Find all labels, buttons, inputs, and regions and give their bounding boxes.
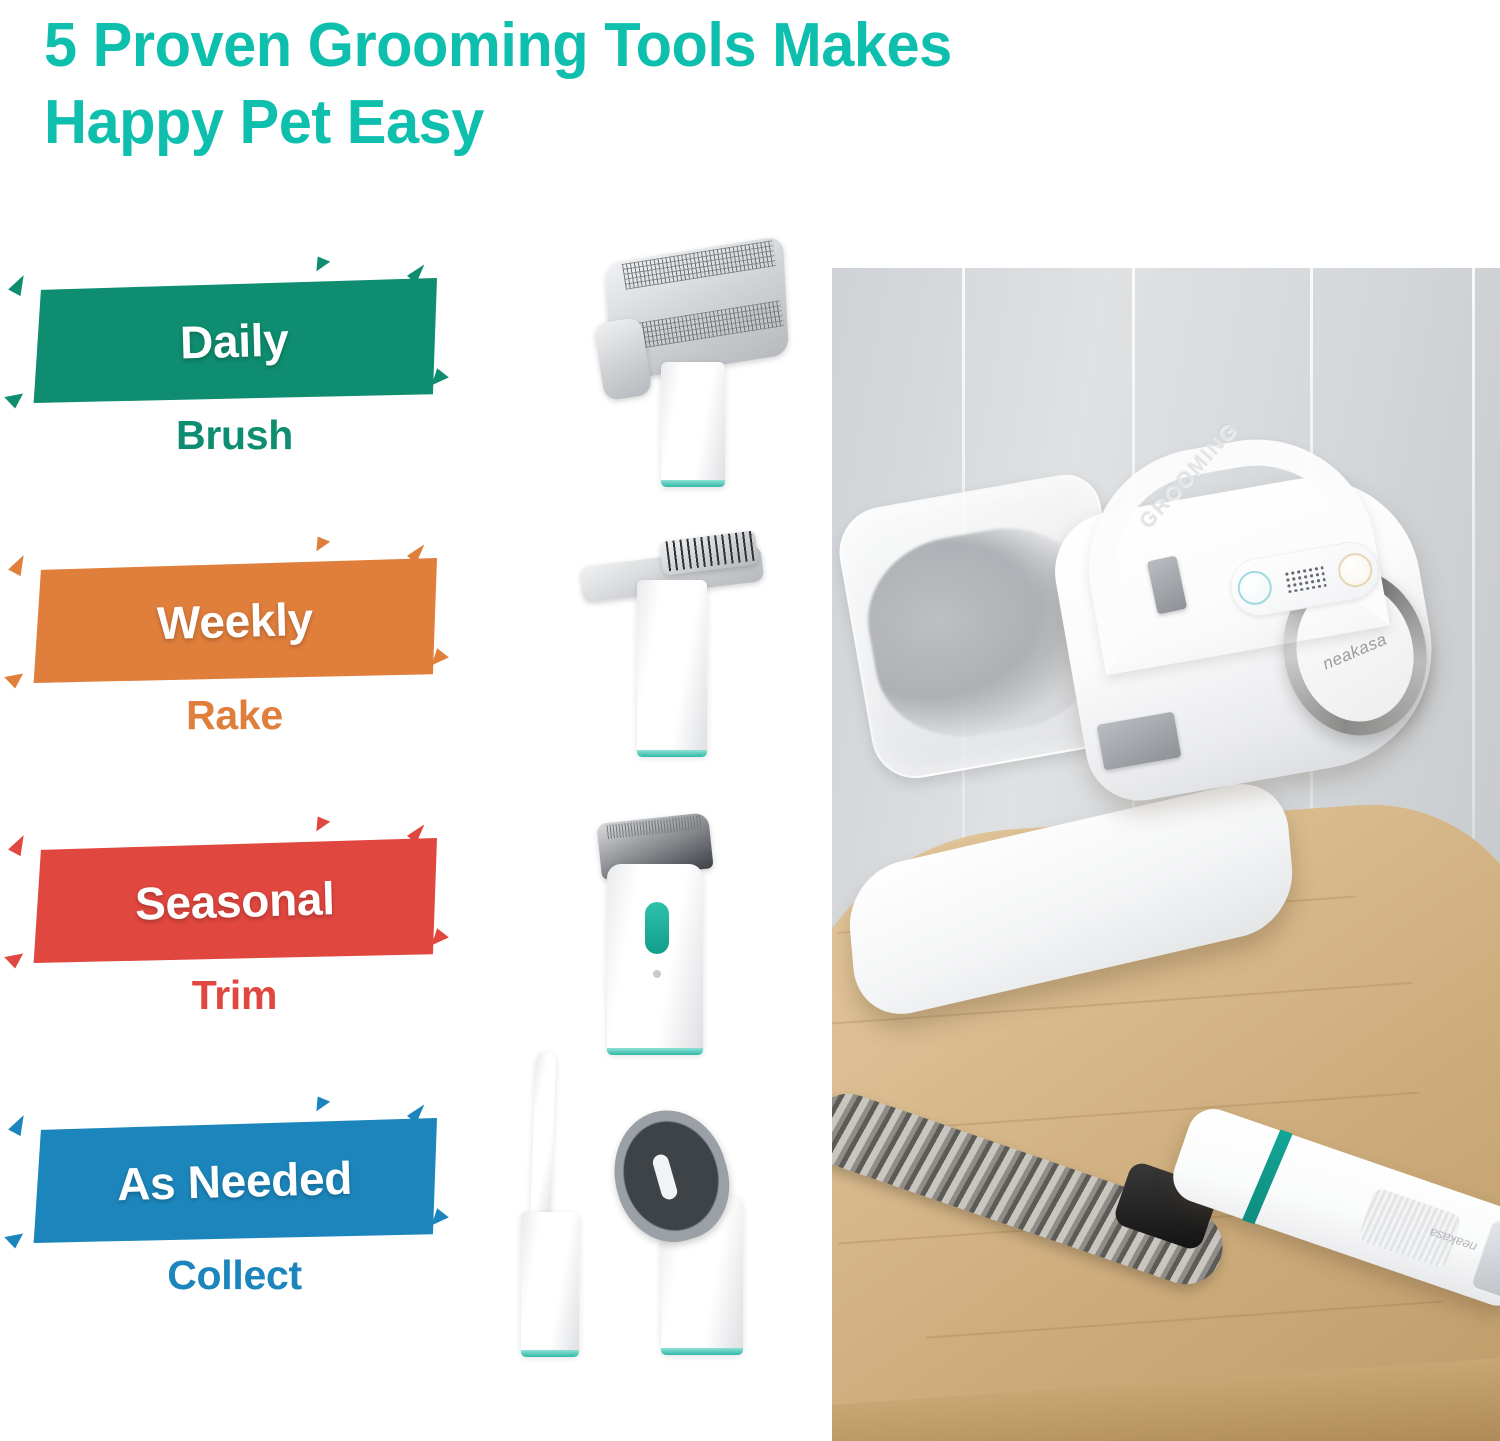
corner-tick-icon — [2, 946, 23, 968]
power-button[interactable] — [1336, 550, 1375, 589]
banner-seasonal: Seasonal Trim — [0, 810, 470, 985]
brand-logo: neakasa — [1320, 630, 1390, 675]
page-title: 5 Proven Grooming Tools Makes Happy Pet … — [44, 8, 1196, 162]
banner-shape-as-needed: As Needed — [32, 1118, 437, 1243]
banner-shape-seasonal: Seasonal — [32, 838, 437, 963]
corner-tick-icon — [432, 928, 451, 949]
corner-tick-icon — [8, 552, 30, 576]
corner-tick-icon — [316, 1096, 330, 1112]
cleaning-brush-icon — [609, 1100, 769, 1362]
corner-tick-icon — [2, 386, 23, 408]
corner-tick-icon — [432, 648, 451, 669]
banner-shape-weekly: Weekly — [32, 558, 437, 683]
cadence-item-as-needed: As Needed Collect — [0, 1090, 500, 1370]
status-indicator-dots — [1283, 565, 1326, 594]
rake-attachment-icon — [575, 532, 795, 764]
corner-tick-icon — [8, 272, 30, 296]
banner-daily: Daily Brush — [0, 250, 470, 425]
clipper-power-slider — [645, 902, 669, 954]
clipper-attachment-icon — [593, 818, 743, 1060]
corner-tick-icon — [8, 1112, 30, 1136]
corner-tick-icon — [2, 1226, 23, 1248]
caption-weekly: Rake — [32, 692, 437, 739]
banner-label-daily: Daily — [180, 312, 290, 369]
banner-label-weekly: Weekly — [156, 591, 313, 649]
handpiece-grip — [1357, 1187, 1462, 1270]
banner-label-seasonal: Seasonal — [134, 871, 335, 931]
caption-as-needed: Collect — [32, 1252, 437, 1299]
caption-daily: Brush — [32, 412, 437, 459]
cadence-item-daily: Daily Brush — [0, 250, 500, 530]
corner-tick-icon — [316, 536, 330, 552]
product-photo: neakasa GROOMING neakasa — [832, 268, 1500, 1441]
cadence-item-seasonal: Seasonal Trim — [0, 810, 500, 1090]
brush-attachment-icon — [585, 250, 795, 490]
cadence-item-weekly: Weekly Rake — [0, 530, 500, 810]
grooming-cadence-list: Daily Brush Weekly Rake Seasonal — [0, 250, 500, 1370]
banner-shape-daily: Daily — [32, 278, 437, 403]
corner-tick-icon — [432, 1208, 451, 1229]
caption-seasonal: Trim — [32, 972, 437, 1019]
handpiece-blade-guard — [1470, 1219, 1500, 1305]
nozzle-attachment-icon — [515, 1052, 595, 1362]
banner-as-needed: As Needed Collect — [0, 1090, 470, 1265]
banner-label-as-needed: As Needed — [116, 1150, 352, 1211]
corner-tick-icon — [8, 832, 30, 856]
corner-tick-icon — [316, 256, 330, 272]
tool-illustrations — [495, 240, 825, 1370]
handpiece-accent-ring — [1242, 1130, 1293, 1225]
corner-tick-icon — [316, 816, 330, 832]
corner-tick-icon — [432, 368, 451, 389]
corner-tick-icon — [2, 666, 23, 688]
mode-button[interactable] — [1235, 568, 1274, 607]
banner-weekly: Weekly Rake — [0, 530, 470, 705]
